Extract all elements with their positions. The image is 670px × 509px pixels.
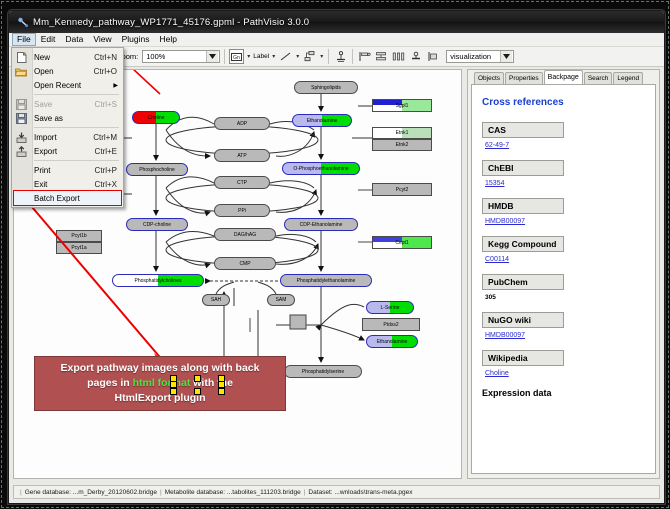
node-label: Pcyt1a — [71, 245, 86, 251]
pathway-metabolite-phosphatidylethanolamine[interactable]: Phosphatidylethanolamine — [280, 274, 372, 287]
file-menu-item-save-as[interactable]: Save as — [12, 111, 123, 125]
xref-name: Wikipedia — [482, 350, 564, 366]
xref-row: Kegg CompoundC00114 — [482, 236, 647, 271]
xref-value[interactable]: HMDB00097 — [482, 214, 647, 233]
pathway-metabolite-cdp-ethanolamine[interactable]: CDP-Ethanolamine — [284, 218, 358, 231]
side-panel-tabs[interactable]: ObjectsPropertiesBackpageSearchLegend — [468, 70, 659, 84]
pathway-metabolite-adp[interactable]: ADP — [214, 117, 270, 130]
node-label: ATP — [237, 153, 246, 159]
file-menu-shortcut: Ctrl+N — [94, 53, 117, 62]
chevron-down-icon-2[interactable] — [500, 51, 512, 62]
xref-value: 305 — [482, 290, 647, 309]
pathvisio-window: Mm_Kennedy_pathway_WP1771_45176.gpml - P… — [8, 10, 665, 504]
node-label: Etnk2 — [396, 142, 409, 148]
file-menu-label: Open Recent — [34, 81, 113, 90]
file-menu-separator — [34, 127, 119, 128]
metabolite-database-value: ...tabolites_111203.bridge — [227, 489, 301, 496]
node-label: DAG/hAG — [234, 232, 256, 238]
file-menu-label: Print — [34, 166, 95, 175]
pathway-metabolite-atp[interactable]: ATP — [214, 149, 270, 162]
file-menu-item-open-recent[interactable]: Open Recent▶ — [12, 78, 123, 92]
save-disk-icon — [15, 99, 27, 110]
xref-link[interactable]: C00114 — [485, 256, 509, 263]
xref-link[interactable]: 62-49-7 — [485, 142, 509, 149]
menu-data[interactable]: Data — [60, 33, 88, 46]
xref-row: ChEBI15354 — [482, 160, 647, 195]
annotation-line1: Export pathway images along with back — [61, 362, 260, 374]
tab-objects[interactable]: Objects — [474, 72, 504, 84]
pathway-metabolite-o-phosphoethanolamine[interactable]: O-Phosphoethanolamine — [282, 162, 360, 175]
node-label: Phosphatidylethanolamine — [297, 278, 356, 284]
xref-link[interactable]: HMDB00097 — [485, 218, 525, 225]
visualization-value: visualization — [450, 52, 491, 61]
annotation-line3: HtmlExport plugin — [115, 392, 206, 404]
pathway-metabolite-ppi[interactable]: PPi — [214, 204, 270, 217]
pathway-metabolite-l-serine[interactable]: L-Serine — [366, 301, 414, 314]
xref-value[interactable]: Choline — [482, 366, 647, 385]
xref-value[interactable]: 15354 — [482, 176, 647, 195]
dataset-label: Dataset: — [308, 489, 332, 496]
group-icon[interactable] — [408, 49, 423, 64]
file-menu-item-open[interactable]: OpenCtrl+O — [12, 64, 123, 78]
chevron-down-icon[interactable] — [206, 51, 218, 62]
pathway-gene-etnk1[interactable]: Etnk1 — [372, 127, 432, 139]
annotation-highlight: html format — [133, 377, 191, 389]
zoom-value: 100% — [146, 52, 165, 61]
tab-properties[interactable]: Properties — [505, 72, 543, 84]
node-label: Choline — [148, 115, 165, 121]
file-menu-shortcut: Ctrl+P — [95, 166, 117, 175]
xref-value[interactable]: HMDB00097 — [482, 328, 647, 347]
file-menu-item-new[interactable]: NewCtrl+N — [12, 50, 123, 64]
file-menu-shortcut: Ctrl+O — [94, 67, 117, 76]
backpage-content: Cross references CAS62-49-7ChEBI15354HMD… — [471, 84, 656, 474]
node-label: Sphingolipids — [311, 85, 341, 91]
node-label: Pcyt1b — [71, 233, 86, 239]
cross-references-title: Cross references — [482, 97, 647, 108]
node-label: CMP — [239, 261, 250, 267]
xref-row: CAS62-49-7 — [482, 122, 647, 157]
statusbar-sep-0: | — [20, 489, 22, 496]
node-label: Pcyt2 — [396, 187, 409, 193]
submenu-arrow-icon: ▶ — [113, 82, 118, 89]
file-menu-item-exit[interactable]: ExitCtrl+X — [12, 177, 123, 191]
cross-reference-list: CAS62-49-7ChEBI15354HMDBHMDB00097Kegg Co… — [482, 122, 647, 385]
toolbar-separator — [224, 49, 225, 64]
file-menu-popup[interactable]: NewCtrl+NOpenCtrl+OOpen Recent▶SaveCtrl+… — [11, 47, 124, 208]
file-menu-label: Save as — [34, 114, 123, 123]
selection-handle[interactable] — [218, 388, 225, 395]
pathway-metabolite-sam[interactable]: SAM — [267, 294, 295, 306]
xref-value[interactable]: 62-49-7 — [482, 138, 647, 157]
selection-handle[interactable] — [194, 375, 201, 382]
xref-row: HMDBHMDB00097 — [482, 198, 647, 233]
gene-database-label: Gene database: — [25, 489, 71, 496]
pathway-metabolite-cmp[interactable]: CMP — [214, 257, 276, 270]
node-label: Phosphocholine — [139, 167, 175, 173]
selection-handle[interactable] — [170, 388, 177, 395]
pathway-metabolite-sah[interactable]: SAH — [202, 294, 230, 306]
menubar[interactable]: File Edit Data View Plugins Help — [9, 33, 664, 47]
annotation-callout: Export pathway images along with back pa… — [34, 356, 286, 411]
pathway-metabolite-sphingolipids[interactable]: Sphingolipids — [294, 81, 358, 94]
selection-handle[interactable] — [194, 388, 201, 395]
file-menu-item-save: SaveCtrl+S — [12, 97, 123, 111]
line-dropdown-icon[interactable]: ▾ — [295, 53, 300, 60]
label-dropdown-icon[interactable]: ▾ — [271, 53, 276, 60]
node-label: Cept1 — [395, 240, 408, 246]
node-label: Sgpl1 — [396, 103, 409, 109]
file-menu-shortcut: Ctrl+S — [95, 100, 117, 109]
node-label: CTP — [237, 180, 247, 186]
node-label: Phosphatidylcholines — [135, 278, 182, 284]
distribute-icon[interactable] — [391, 49, 406, 64]
file-menu-label: Import — [34, 133, 93, 142]
pathway-metabolite-phosphocholine[interactable]: Phosphocholine — [126, 163, 188, 176]
node-label: Ethanolamine — [307, 118, 338, 124]
xref-name: Kegg Compound — [482, 236, 564, 252]
file-menu-shortcut: Ctrl+X — [95, 180, 117, 189]
xref-name: NuGO wiki — [482, 312, 564, 328]
node-label: Ptdss2 — [383, 322, 398, 328]
import-icon — [15, 132, 27, 143]
pathway-metabolite-ethanolamine[interactable]: Ethanolamine — [292, 114, 352, 127]
label-tool-label: Label — [253, 53, 269, 60]
pathway-metabolite-phosphatidylcholines[interactable]: Phosphatidylcholines — [112, 274, 204, 287]
pathway-metabolite-choline[interactable]: Choline — [132, 111, 180, 124]
window-title: Mm_Kennedy_pathway_WP1771_45176.gpml - P… — [33, 17, 309, 28]
file-menu-label: New — [34, 53, 94, 62]
save-as-icon — [15, 113, 27, 124]
node-label: CDP-choline — [143, 222, 171, 228]
anchor-icon[interactable] — [333, 49, 348, 64]
statusbar: | Gene database: ...m_Derby_20120602.bri… — [13, 485, 660, 499]
file-menu-label: Batch Export — [34, 194, 121, 203]
menu-view[interactable]: View — [88, 33, 116, 46]
node-label: SAH — [211, 297, 221, 303]
line-icon[interactable] — [278, 49, 293, 64]
tab-backpage[interactable]: Backpage — [544, 70, 583, 84]
node-label: Etnk1 — [396, 130, 409, 136]
toolbar-separator-2 — [328, 49, 329, 64]
pathway-metabolite-cdp-choline[interactable]: CDP-choline — [126, 218, 188, 231]
pathway-gene-sgpl1[interactable]: Sgpl1 — [372, 99, 432, 112]
zoom-combobox[interactable]: 100% — [142, 50, 220, 63]
xref-value[interactable]: C00114 — [482, 252, 647, 271]
tab-search[interactable]: Search — [584, 72, 613, 84]
export-icon — [15, 146, 27, 157]
menu-help[interactable]: Help — [155, 33, 182, 46]
file-menu-item-print[interactable]: PrintCtrl+P — [12, 163, 123, 177]
menu-plugins[interactable]: Plugins — [117, 33, 155, 46]
window-titlebar: Mm_Kennedy_pathway_WP1771_45176.gpml - P… — [9, 11, 664, 33]
node-label: CDP-Ethanolamine — [300, 222, 343, 228]
xref-link[interactable]: 15354 — [485, 180, 504, 187]
node-label: O-Phosphoethanolamine — [293, 166, 348, 172]
file-menu-separator — [34, 94, 119, 95]
xref-name: CAS — [482, 122, 564, 138]
file-menu-item-import[interactable]: ImportCtrl+M — [12, 130, 123, 144]
pathway-metabolite-ethanolamine[interactable]: Ethanolamine — [366, 335, 418, 348]
file-menu-item-export[interactable]: ExportCtrl+E — [12, 144, 123, 158]
side-panel[interactable]: ObjectsPropertiesBackpageSearchLegend Cr… — [467, 69, 660, 479]
annotation-line2-pre: pages in — [87, 377, 133, 389]
open-folder-icon — [15, 66, 27, 77]
file-menu-shortcut: Ctrl+M — [93, 133, 117, 142]
file-menu-label: Export — [34, 147, 95, 156]
xref-row: WikipediaCholine — [482, 350, 647, 385]
interaction-icon[interactable] — [302, 49, 317, 64]
pathway-gene-pcyt2[interactable]: Pcyt2 — [372, 183, 432, 196]
pathway-gene-cept1[interactable]: Cept1 — [372, 236, 432, 249]
pathway-gene-etnk2[interactable]: Etnk2 — [372, 139, 432, 151]
file-menu-item-batch-export[interactable]: Batch Export — [14, 191, 121, 205]
file-menu-label: Exit — [34, 180, 95, 189]
xref-row: NuGO wikiHMDB00097 — [482, 312, 647, 347]
xref-link[interactable]: HMDB00097 — [485, 332, 525, 339]
xref-row: PubChem305 — [482, 274, 647, 309]
datanode-icon[interactable]: Gn — [229, 49, 244, 64]
pathway-gene-pcyt1b[interactable]: Pcyt1b — [56, 230, 102, 242]
xref-name: PubChem — [482, 274, 564, 290]
screenshot-frame: Mm_Kennedy_pathway_WP1771_45176.gpml - P… — [0, 0, 670, 509]
menu-file[interactable]: File — [12, 33, 36, 46]
svg-text:Gn: Gn — [233, 55, 240, 61]
pathvisio-app-icon — [17, 16, 29, 28]
align-icon[interactable] — [357, 49, 372, 64]
new-file-icon — [15, 52, 27, 63]
toolbar-separator-3 — [352, 49, 353, 64]
tab-legend[interactable]: Legend — [613, 72, 643, 84]
pathway-metabolite-dag-hag[interactable]: DAG/hAG — [214, 228, 276, 241]
pathway-metabolite-ctp[interactable]: CTP — [214, 176, 270, 189]
xref-name: ChEBI — [482, 160, 564, 176]
gene-database-value: ...m_Derby_20120602.bridge — [73, 489, 157, 496]
pathway-metabolite-phosphatidylserine[interactable]: Phosphatidylserine — [284, 365, 362, 378]
statusbar-sep-1: | — [160, 489, 162, 496]
stack-icon[interactable] — [374, 49, 389, 64]
file-menu-label: Save — [34, 100, 95, 109]
visualization-combobox[interactable]: visualization — [446, 50, 514, 63]
node-label: Ethanolamine — [377, 339, 408, 345]
order-icon[interactable] — [425, 49, 440, 64]
xref-name: HMDB — [482, 198, 564, 214]
node-label: SAM — [276, 297, 287, 303]
menu-edit[interactable]: Edit — [36, 33, 61, 46]
node-label: L-Serine — [381, 305, 400, 311]
node-label: PPi — [238, 208, 246, 214]
pathway-gene-pcyt1a[interactable]: Pcyt1a — [56, 242, 102, 254]
node-label: ADP — [237, 121, 247, 127]
metabolite-database-label: Metabolite database: — [165, 489, 225, 496]
file-menu-label: Open — [34, 67, 94, 76]
dataset-value: ...wnloads\trans-meta.pgex — [334, 489, 412, 496]
file-menu-separator — [34, 160, 119, 161]
datanode-dropdown-icon[interactable]: ▾ — [246, 53, 251, 60]
interaction-dropdown-icon[interactable]: ▾ — [319, 53, 324, 60]
node-label: Phosphatidylserine — [302, 369, 344, 375]
xref-link[interactable]: Choline — [485, 370, 509, 377]
expression-data-title: Expression data — [482, 388, 647, 398]
statusbar-sep-2: | — [304, 489, 306, 496]
pathway-gene-ptdss2[interactable]: Ptdss2 — [362, 318, 420, 331]
file-menu-shortcut: Ctrl+E — [95, 147, 117, 156]
